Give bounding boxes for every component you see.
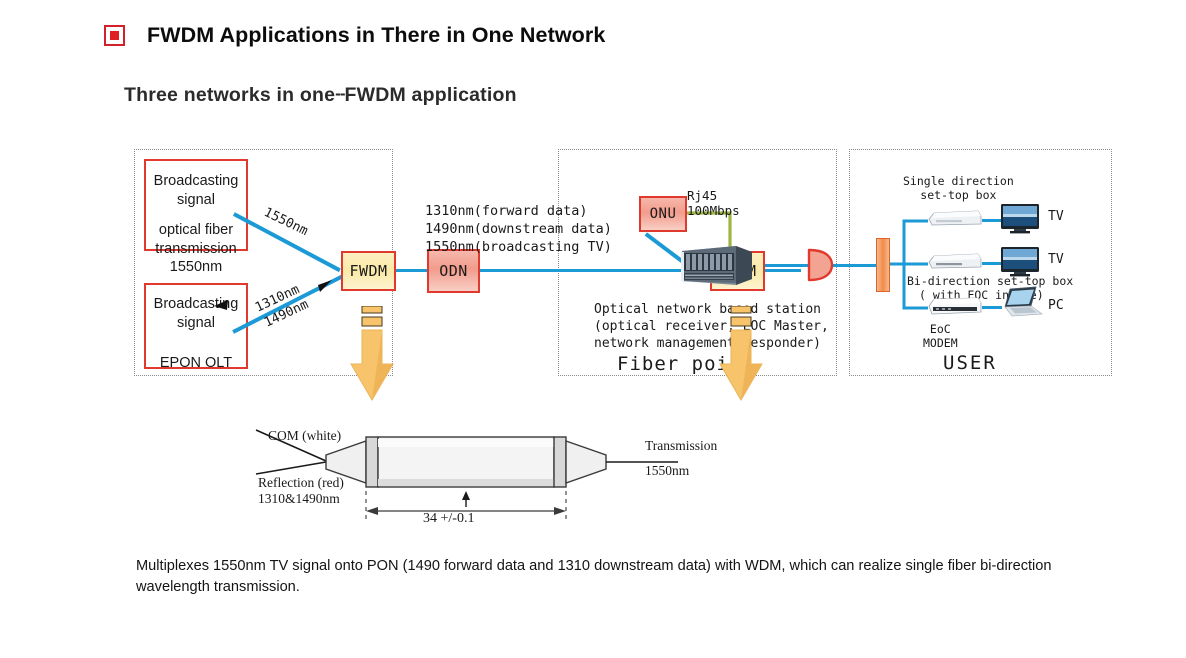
broadcast-1-line4: transmission	[146, 240, 246, 259]
link-stb2-to-tv2	[982, 262, 1002, 265]
broadcast-2-line3: EPON OLT	[146, 354, 246, 373]
endpoint-label-tv-2: TV	[1048, 252, 1064, 267]
callout-arrow-left	[348, 306, 396, 402]
slide-header: FWDM Applications in There in One Networ…	[104, 18, 804, 52]
square-bullet-icon	[104, 25, 125, 46]
endpoint-label-pc: PC	[1048, 298, 1064, 313]
wavelength-legend-block: 1310nm(forward data) 1490nm(downstream d…	[425, 203, 612, 256]
wavelength-legend-line-2: 1490nm(downstream data)	[425, 221, 612, 239]
eoc-modem-icon	[928, 297, 982, 316]
server-rack-icon	[676, 243, 754, 287]
single-direction-label-line-1: Single direction	[903, 174, 1014, 188]
single-direction-stb-label: Single direction set-top box	[903, 174, 1014, 203]
fiber-line-fwdm-to-odn	[396, 269, 428, 272]
broadcast-1-line1: Broadcasting	[146, 172, 246, 191]
diagram-heading-dashes: --	[335, 84, 344, 103]
bi-direction-label-line-1: Bi-direction set-top box	[907, 274, 1073, 288]
device-label-reflection: Reflection (red)	[258, 475, 344, 491]
device-label-transmission: Transmission	[645, 438, 717, 454]
page-title: FWDM Applications in There in One Networ…	[147, 23, 605, 48]
eoc-modem-label-line-2: MODEM	[923, 336, 958, 350]
endpoint-label-tv-1: TV	[1048, 209, 1064, 224]
group-caption-user: USER	[943, 352, 997, 374]
fiber-line-receiver-to-splitter	[830, 264, 880, 267]
device-dimension-label: 34 +/-0.1	[423, 511, 474, 527]
station-label-line-1: Optical network based station	[594, 302, 829, 319]
rj45-label-line-2: 100Mbps	[687, 203, 740, 218]
wavelength-legend-line-3: 1550nm(broadcasting TV)	[425, 239, 612, 257]
station-label-line-2: (optical receiver, EOC Master,	[594, 319, 829, 336]
set-top-box-single-direction-icon	[928, 210, 982, 227]
rj45-label: Rj45 100Mbps	[687, 188, 740, 219]
callout-arrow-right	[717, 306, 765, 402]
wavelength-legend-line-1: 1310nm(forward data)	[425, 203, 612, 221]
station-label-line-3: network management responder)	[594, 336, 829, 353]
optical-receiver-icon	[806, 248, 836, 282]
tv-icon-1	[1000, 203, 1040, 234]
rj45-label-line-1: Rj45	[687, 188, 740, 203]
station-label: Optical network based station (optical r…	[594, 302, 829, 353]
component-fwdm-left[interactable]: FWDM	[341, 251, 396, 291]
set-top-box-bi-direction-icon	[928, 253, 982, 270]
eoc-modem-label: EoC MODEM	[923, 322, 958, 351]
broadcast-1-line2: signal	[146, 191, 246, 210]
link-stb1-to-tv1	[982, 219, 1002, 222]
device-label-com: COM (white)	[268, 428, 341, 444]
bottom-caption: Multiplexes 1550nm TV signal onto PON (1…	[136, 556, 1066, 598]
fiber-line-fwdm2-to-rack	[765, 269, 801, 272]
diagram-heading-tail: FWDM application	[345, 84, 517, 106]
diagram-heading-main: Three networks in one	[124, 84, 335, 106]
broadcast-1-line5: 1550nm	[146, 258, 246, 277]
diagram-heading: Three networks in one--FWDM application	[124, 84, 517, 107]
single-direction-label-line-2: set-top box	[903, 188, 1014, 202]
laptop-pc-icon	[998, 286, 1046, 320]
eoc-modem-label-line-1: EoC	[923, 322, 958, 336]
component-onu[interactable]: ONU	[639, 196, 687, 232]
source-box-broadcast-1550: Broadcasting signal optical fiber transm…	[144, 159, 248, 251]
tv-icon-2	[1000, 246, 1040, 277]
device-label-reflection-wavelength: 1310&1490nm	[258, 491, 340, 507]
device-label-transmission-wavelength: 1550nm	[645, 463, 689, 479]
broadcast-1-line3: optical fiber	[146, 221, 246, 240]
